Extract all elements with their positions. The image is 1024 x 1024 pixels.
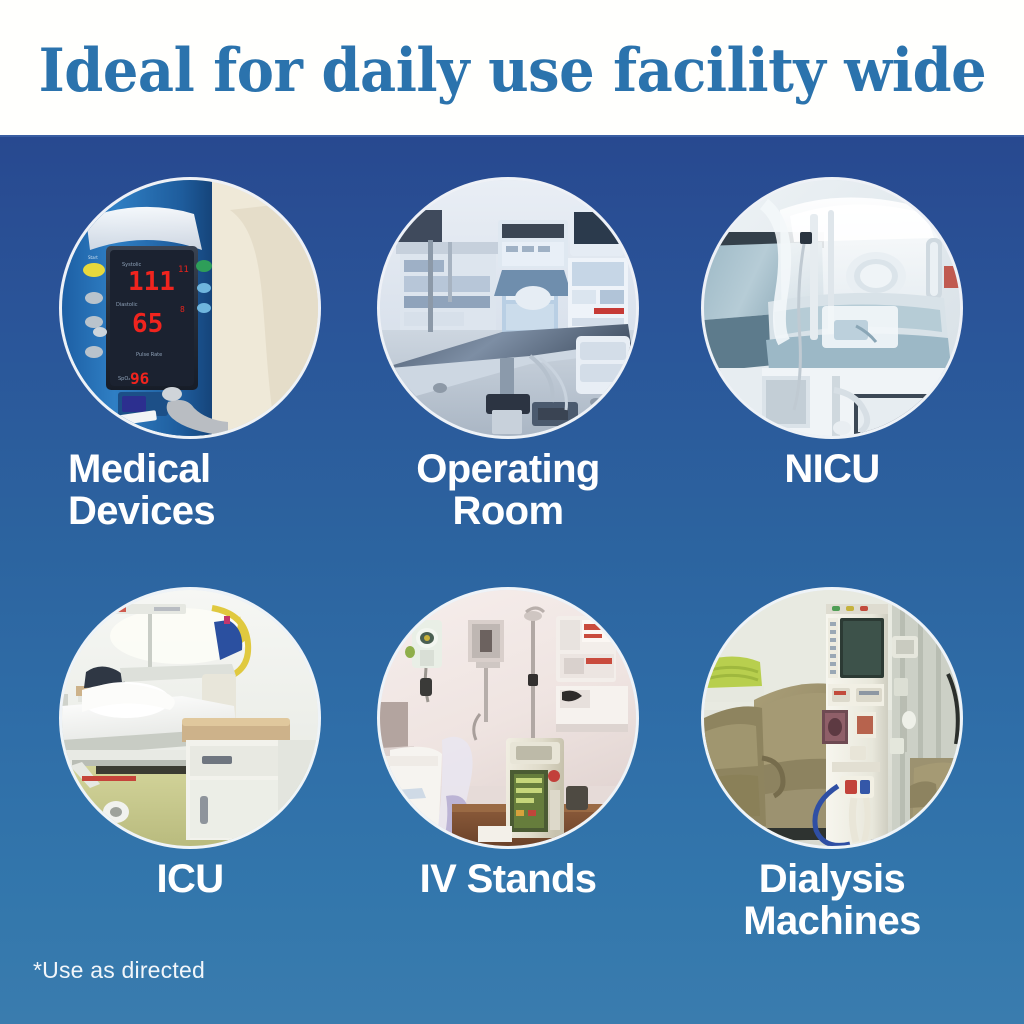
caption-line-2: Machines xyxy=(743,899,921,943)
svg-text:11: 11 xyxy=(178,265,189,275)
circle-frame xyxy=(62,590,318,846)
image-icu xyxy=(62,590,318,846)
feature-item-dialysis-machines[interactable]: Dialysis Machines xyxy=(672,590,992,1010)
footnote-text: *Use as directed xyxy=(33,957,205,984)
circle-frame xyxy=(704,180,960,436)
circle-frame xyxy=(380,180,636,436)
caption-line-1: IV Stands xyxy=(420,857,597,901)
feature-item-icu[interactable]: ICU xyxy=(30,590,350,1010)
svg-text:8: 8 xyxy=(180,305,185,314)
caption-line-1: NICU xyxy=(784,447,879,491)
caption-icu: ICU xyxy=(30,858,350,900)
svg-text:Start: Start xyxy=(88,255,98,260)
feature-item-nicu[interactable]: NICU xyxy=(672,180,992,600)
caption-line-1: Dialysis xyxy=(759,857,905,901)
feature-item-operating-room[interactable]: Operating Room xyxy=(348,180,668,600)
feature-grid: Systolic 111 11 Diastolic 65 8 Pulse Rat… xyxy=(0,150,1024,1024)
svg-text:Pulse Rate: Pulse Rate xyxy=(136,352,162,358)
feature-item-medical-devices[interactable]: Systolic 111 11 Diastolic 65 8 Pulse Rat… xyxy=(30,180,350,600)
image-medical-devices: Systolic 111 11 Diastolic 65 8 Pulse Rat… xyxy=(62,180,318,436)
svg-text:111: 111 xyxy=(128,267,175,297)
page-title: Ideal for daily use facility wide xyxy=(38,35,986,101)
image-operating-room xyxy=(380,180,636,436)
image-nicu xyxy=(704,180,960,436)
caption-line-1: Medical xyxy=(68,447,211,491)
feature-row-2: ICU xyxy=(0,590,1024,1010)
svg-text:Diastolic: Diastolic xyxy=(116,302,138,308)
feature-row-1: Systolic 111 11 Diastolic 65 8 Pulse Rat… xyxy=(0,180,1024,600)
caption-nicu: NICU xyxy=(672,448,992,490)
caption-dialysis-machines: Dialysis Machines xyxy=(672,858,992,943)
image-dialysis-machines xyxy=(704,590,960,846)
caption-line-2: Devices xyxy=(68,489,215,533)
header-band: Ideal for daily use facility wide xyxy=(0,0,1024,137)
caption-iv-stands: IV Stands xyxy=(348,858,668,900)
svg-text:96: 96 xyxy=(130,369,149,388)
caption-operating-room: Operating Room xyxy=(348,448,668,533)
circle-frame: Systolic 111 11 Diastolic 65 8 Pulse Rat… xyxy=(62,180,318,436)
caption-line-1: Operating xyxy=(416,447,600,491)
image-iv-stands xyxy=(380,590,636,846)
circle-frame xyxy=(704,590,960,846)
circle-frame xyxy=(380,590,636,846)
svg-text:SpO₂: SpO₂ xyxy=(118,376,130,382)
caption-line-1: ICU xyxy=(156,857,223,901)
caption-medical-devices: Medical Devices xyxy=(30,448,350,533)
caption-line-2: Room xyxy=(453,489,564,533)
poster-root: Ideal for daily use facility wide xyxy=(0,0,1024,1024)
svg-text:65: 65 xyxy=(132,309,163,339)
feature-item-iv-stands[interactable]: IV Stands xyxy=(348,590,668,1010)
